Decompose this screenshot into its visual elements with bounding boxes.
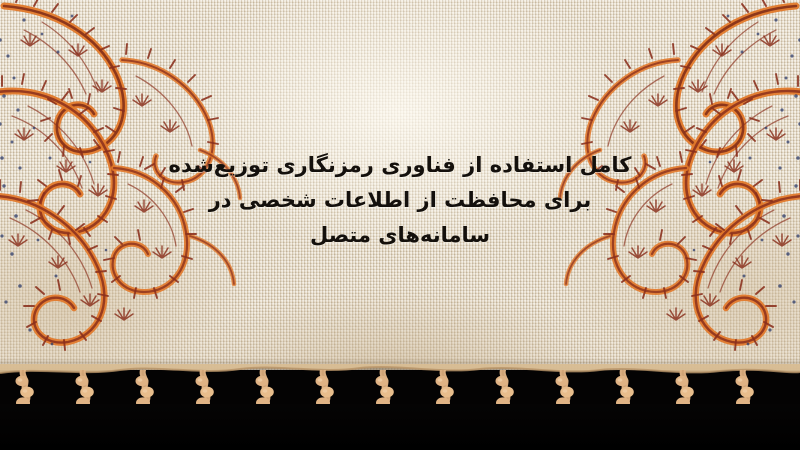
- fringe-selvedge-band: [0, 364, 800, 380]
- linen-fabric-panel: [0, 0, 800, 376]
- textile-banner: کامل استفاده از فناوری رمزنگاری توزیع‌شد…: [0, 0, 800, 450]
- dark-backdrop: [0, 404, 800, 450]
